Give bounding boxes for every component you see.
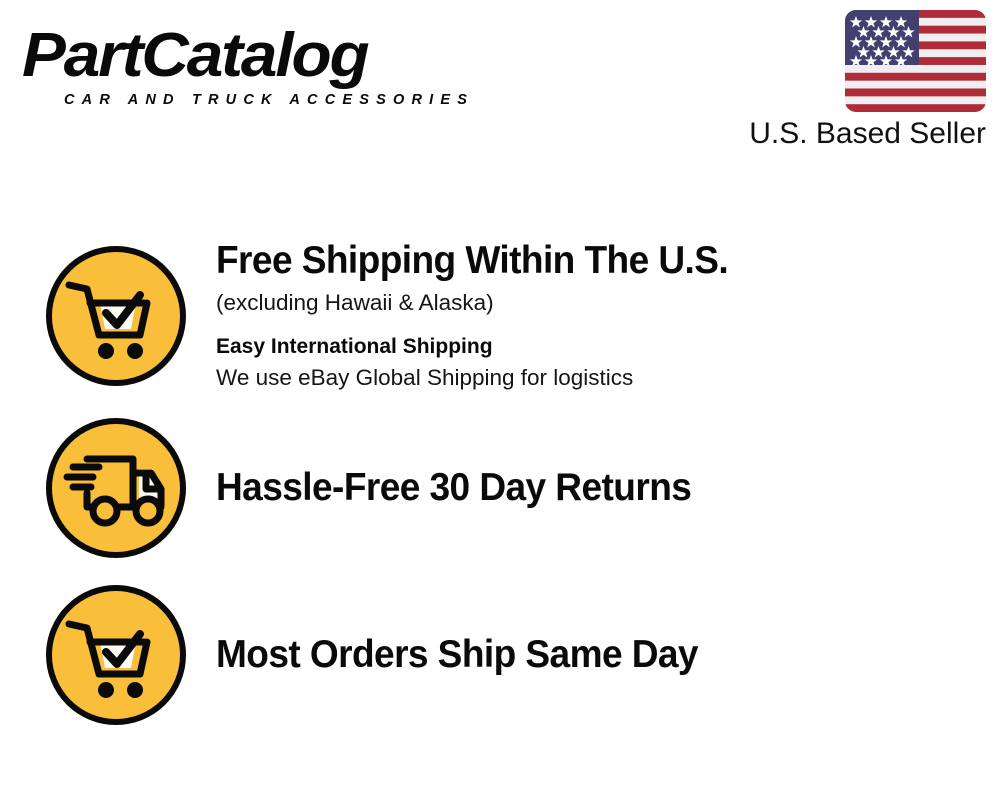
seller-badge: U.S. Based Seller xyxy=(716,10,986,151)
us-flag-icon xyxy=(845,10,986,112)
feature-row: Most Orders Ship Same Day xyxy=(0,575,1000,735)
brand-wordmark: PartCatalog xyxy=(22,24,520,88)
feature-row: Hassle-Free 30 Day Returns xyxy=(0,403,1000,573)
feature-note-title: Easy International Shipping xyxy=(216,332,980,362)
feature-text: Free Shipping Within The U.S. (excluding… xyxy=(216,238,1000,393)
feature-heading: Hassle-Free 30 Day Returns xyxy=(216,465,942,511)
shopping-cart-check-icon xyxy=(43,243,189,389)
feature-row: Free Shipping Within The U.S. (excluding… xyxy=(0,228,1000,403)
brand-tagline: CAR AND TRUCK ACCESSORIES xyxy=(64,92,474,108)
feature-icon-wrap xyxy=(42,415,190,561)
banner-header: PartCatalog CAR AND TRUCK ACCESSORIES xyxy=(0,0,1000,175)
feature-subtext: (excluding Hawaii & Alaska) xyxy=(216,287,980,318)
feature-list: Free Shipping Within The U.S. (excluding… xyxy=(0,228,1000,735)
feature-heading: Free Shipping Within The U.S. xyxy=(216,238,942,284)
feature-icon-wrap xyxy=(42,243,190,389)
delivery-truck-icon xyxy=(43,415,189,561)
shopping-cart-check-icon xyxy=(43,582,189,728)
seller-label: U.S. Based Seller xyxy=(716,117,986,151)
feature-text: Hassle-Free 30 Day Returns xyxy=(216,465,1000,511)
feature-text: Most Orders Ship Same Day xyxy=(216,632,1000,678)
brand-logo[interactable]: PartCatalog CAR AND TRUCK ACCESSORIES xyxy=(22,24,492,114)
feature-note-body: We use eBay Global Shipping for logistic… xyxy=(216,362,980,393)
feature-heading: Most Orders Ship Same Day xyxy=(216,632,942,678)
feature-icon-wrap xyxy=(42,582,190,728)
